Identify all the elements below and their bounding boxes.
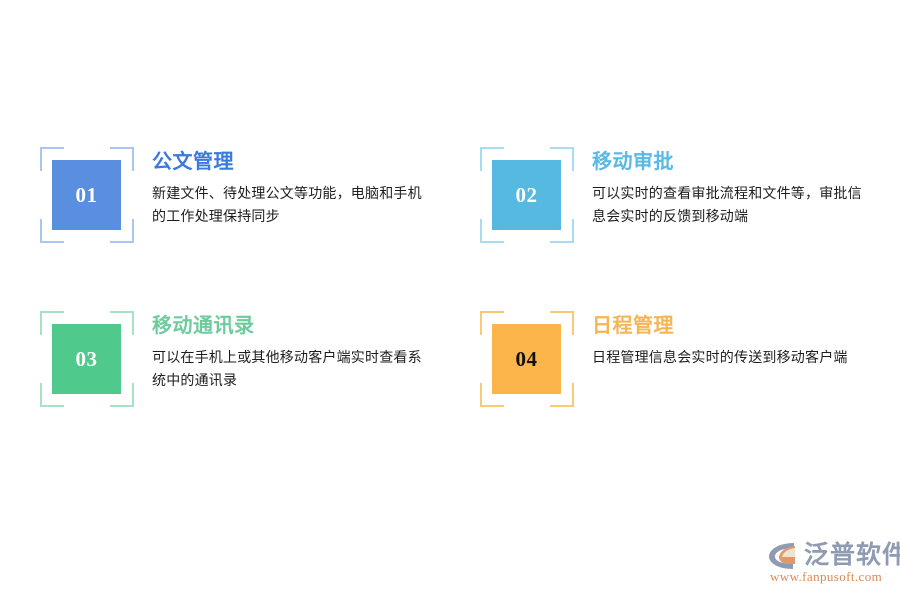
badge-square-04: 04 bbox=[492, 324, 561, 394]
feature-grid: 01 公文管理 新建文件、待处理公文等功能，电脑和手机的工作处理保持同步 02 … bbox=[0, 0, 900, 600]
badge-square-01: 01 bbox=[52, 160, 121, 230]
feature-title-02: 移动审批 bbox=[592, 150, 864, 174]
feature-card-04[interactable]: 04 日程管理 日程管理信息会实时的传送到移动客户端 bbox=[480, 311, 848, 407]
feature-title-03: 移动通讯录 bbox=[152, 314, 424, 338]
feature-description-02: 可以实时的查看审批流程和文件等，审批信息会实时的反馈到移动端 bbox=[592, 182, 864, 227]
badge-number-02: 02 bbox=[516, 185, 538, 206]
badge-square-02: 02 bbox=[492, 160, 561, 230]
feature-description-04: 日程管理信息会实时的传送到移动客户端 bbox=[592, 346, 848, 369]
feature-badge-04: 04 bbox=[480, 311, 574, 407]
feature-text-02: 移动审批 可以实时的查看审批流程和文件等，审批信息会实时的反馈到移动端 bbox=[592, 147, 864, 227]
feature-badge-03: 03 bbox=[40, 311, 134, 407]
logo-wordmark: 泛普软件 bbox=[804, 540, 900, 570]
fan-arc-logo-icon bbox=[768, 542, 802, 570]
feature-showcase-page: 01 公文管理 新建文件、待处理公文等功能，电脑和手机的工作处理保持同步 02 … bbox=[0, 0, 900, 600]
feature-description-01: 新建文件、待处理公文等功能，电脑和手机的工作处理保持同步 bbox=[152, 182, 424, 227]
feature-card-01[interactable]: 01 公文管理 新建文件、待处理公文等功能，电脑和手机的工作处理保持同步 bbox=[40, 147, 424, 243]
feature-title-01: 公文管理 bbox=[152, 150, 424, 174]
badge-square-03: 03 bbox=[52, 324, 121, 394]
badge-number-01: 01 bbox=[76, 185, 98, 206]
feature-text-03: 移动通讯录 可以在手机上或其他移动客户端实时查看系统中的通讯录 bbox=[152, 311, 424, 391]
brand-logo: 泛普软件 www.fanpusoft.com bbox=[768, 540, 890, 584]
feature-card-02[interactable]: 02 移动审批 可以实时的查看审批流程和文件等，审批信息会实时的反馈到移动端 bbox=[480, 147, 864, 243]
feature-description-03: 可以在手机上或其他移动客户端实时查看系统中的通讯录 bbox=[152, 346, 424, 391]
feature-badge-02: 02 bbox=[480, 147, 574, 243]
badge-number-04: 04 bbox=[516, 349, 538, 370]
feature-text-01: 公文管理 新建文件、待处理公文等功能，电脑和手机的工作处理保持同步 bbox=[152, 147, 424, 227]
feature-badge-01: 01 bbox=[40, 147, 134, 243]
feature-title-04: 日程管理 bbox=[592, 314, 848, 338]
feature-text-04: 日程管理 日程管理信息会实时的传送到移动客户端 bbox=[592, 311, 848, 369]
badge-number-03: 03 bbox=[76, 349, 98, 370]
logo-url: www.fanpusoft.com bbox=[770, 569, 882, 585]
feature-card-03[interactable]: 03 移动通讯录 可以在手机上或其他移动客户端实时查看系统中的通讯录 bbox=[40, 311, 424, 407]
